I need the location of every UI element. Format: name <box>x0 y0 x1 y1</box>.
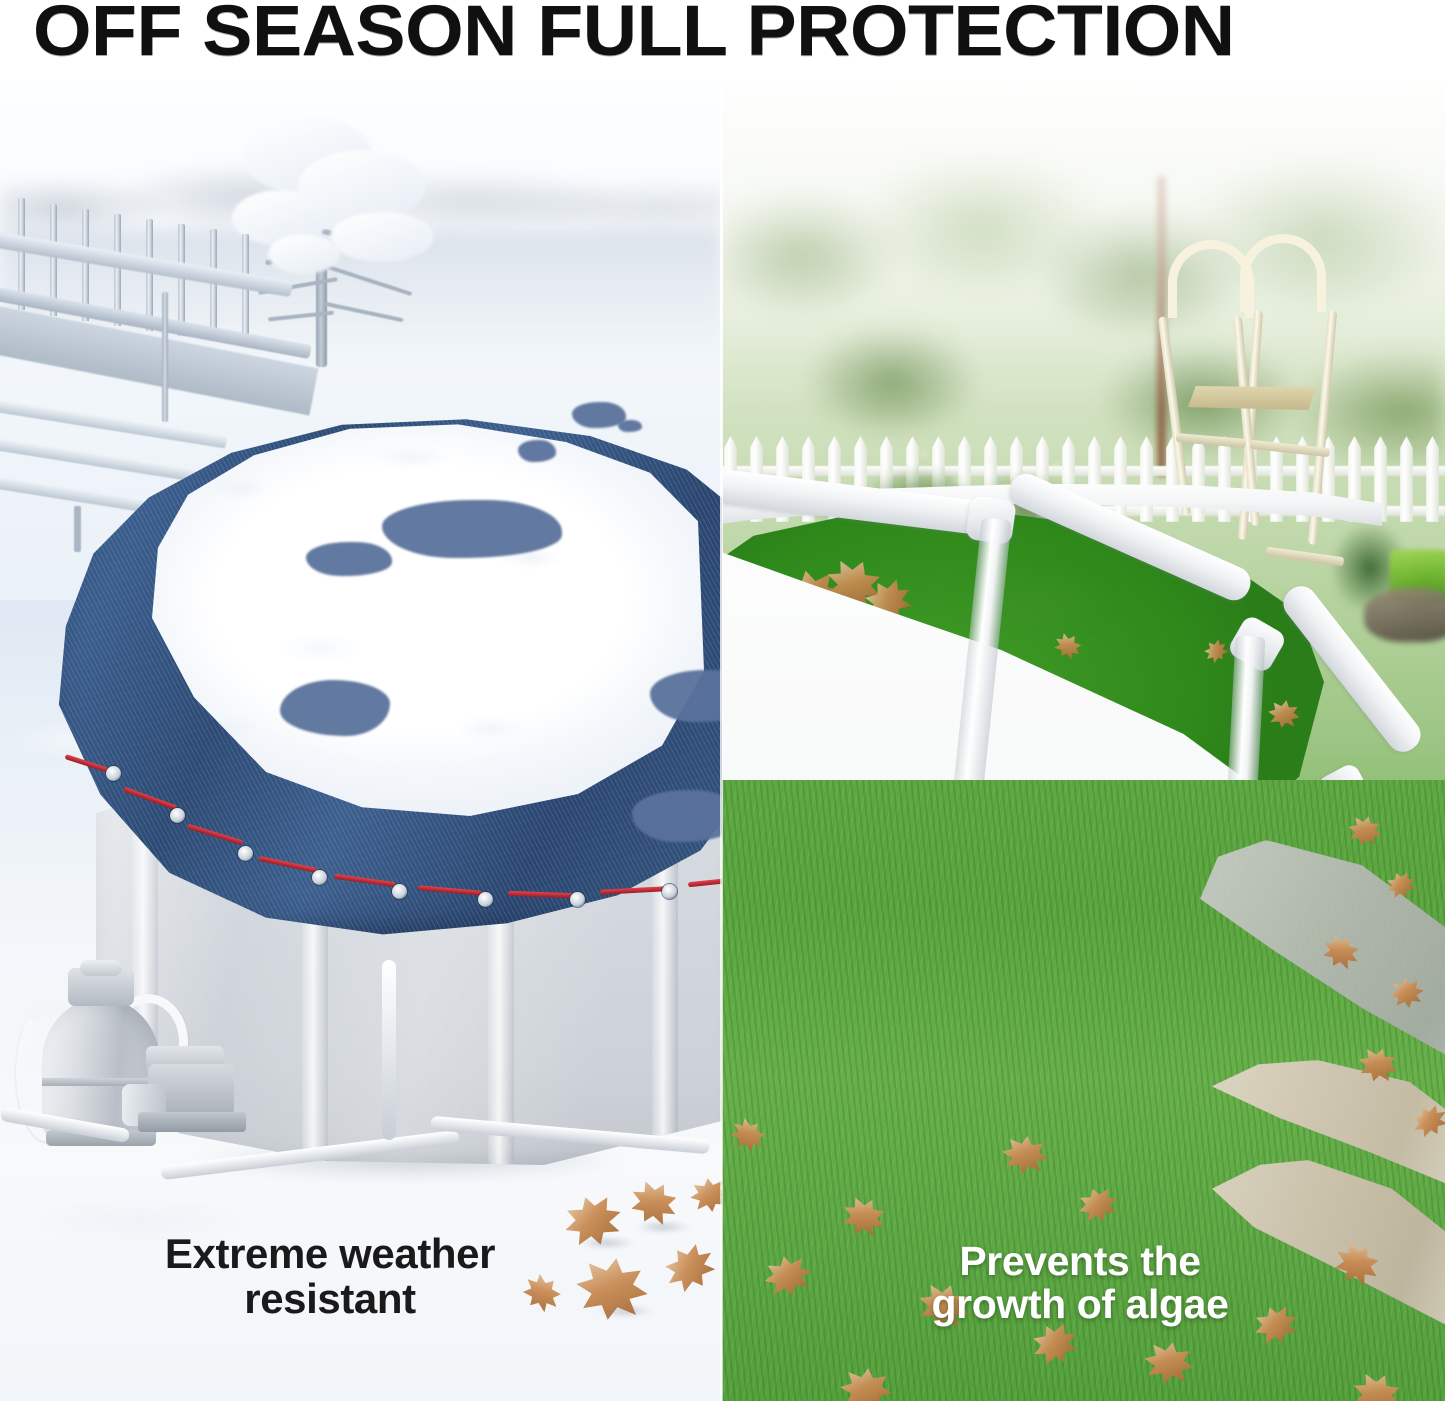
red-cable <box>688 878 722 888</box>
winter-scene-panel <box>0 80 722 1401</box>
fallen-leaf <box>688 1175 722 1214</box>
exposed-cover-patch <box>618 420 642 432</box>
cover-grommet-strip <box>62 680 722 940</box>
cover-grommet[interactable] <box>312 870 327 885</box>
exposed-cover-patch <box>518 440 556 462</box>
caption-left: Extreme weather resistant <box>60 1232 600 1321</box>
caption-right: Prevents the growth of algae <box>830 1240 1330 1327</box>
red-cable <box>418 885 482 896</box>
cover-grommet[interactable] <box>570 892 585 907</box>
cover-grommet[interactable] <box>238 846 253 861</box>
headline-band: OFF SEASON FULL PROTECTION <box>0 0 1445 82</box>
caption-right-line2: growth of algae <box>830 1283 1330 1326</box>
red-cable <box>187 824 244 846</box>
split-comparison-photo: Extreme weather resistant Prevents the g… <box>0 80 1445 1401</box>
cover-grommet[interactable] <box>170 808 185 823</box>
fallen-leaf <box>1141 1338 1198 1388</box>
valve-cap[interactable] <box>80 960 122 976</box>
split-seam-divider <box>720 80 723 1401</box>
cover-grommet[interactable] <box>662 884 677 899</box>
cover-grommet[interactable] <box>392 884 407 899</box>
page-title: OFF SEASON FULL PROTECTION <box>33 0 1235 72</box>
red-cable <box>334 874 396 888</box>
pump-base-plinth <box>138 1112 246 1132</box>
algae-scene-panel <box>722 80 1445 1401</box>
floating-leaf <box>1266 697 1302 730</box>
exposed-cover-patch <box>306 542 392 576</box>
caption-right-line1: Prevents the <box>830 1240 1330 1283</box>
garden-boulder <box>1364 588 1445 642</box>
red-cable <box>123 787 177 811</box>
fallen-leaf <box>838 1365 894 1401</box>
pool-return-hose-vertical <box>382 960 396 1140</box>
product-feature-image: Extreme weather resistant Prevents the g… <box>0 0 1445 1401</box>
cover-grommet[interactable] <box>106 766 121 781</box>
red-cable <box>600 886 666 894</box>
exposed-cover-patch <box>382 500 562 558</box>
sand-filter-pump <box>18 960 268 1180</box>
fallen-leaf <box>1388 976 1426 1010</box>
red-cable <box>258 856 318 873</box>
ladder-platform <box>1188 386 1316 410</box>
caption-left-line1: Extreme weather <box>60 1232 600 1277</box>
red-cable <box>508 891 574 898</box>
fallen-leaf <box>1000 1133 1051 1177</box>
cover-grommet[interactable] <box>478 892 493 907</box>
caption-left-line2: resistant <box>60 1277 600 1322</box>
